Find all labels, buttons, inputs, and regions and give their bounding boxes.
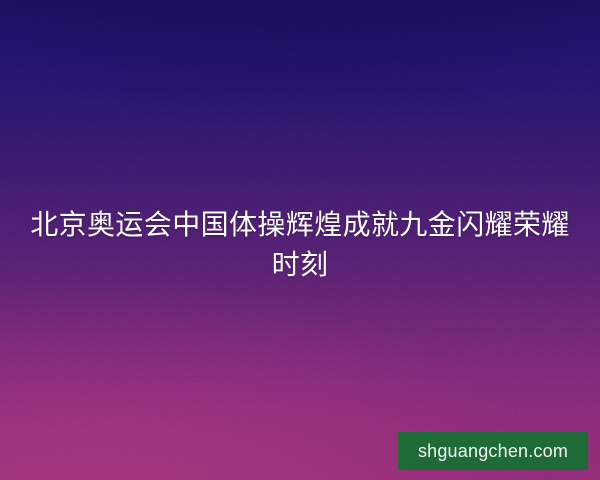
watermark-label: shguangchen.com <box>418 442 568 460</box>
watermark-badge: shguangchen.com <box>398 432 588 470</box>
title-card-image: 北京奥运会中国体操辉煌成就九金闪耀荣耀时刻 shguangchen.com <box>0 0 600 480</box>
title-block: 北京奥运会中国体操辉煌成就九金闪耀荣耀时刻 <box>0 205 600 285</box>
page-title: 北京奥运会中国体操辉煌成就九金闪耀荣耀时刻 <box>22 205 578 285</box>
